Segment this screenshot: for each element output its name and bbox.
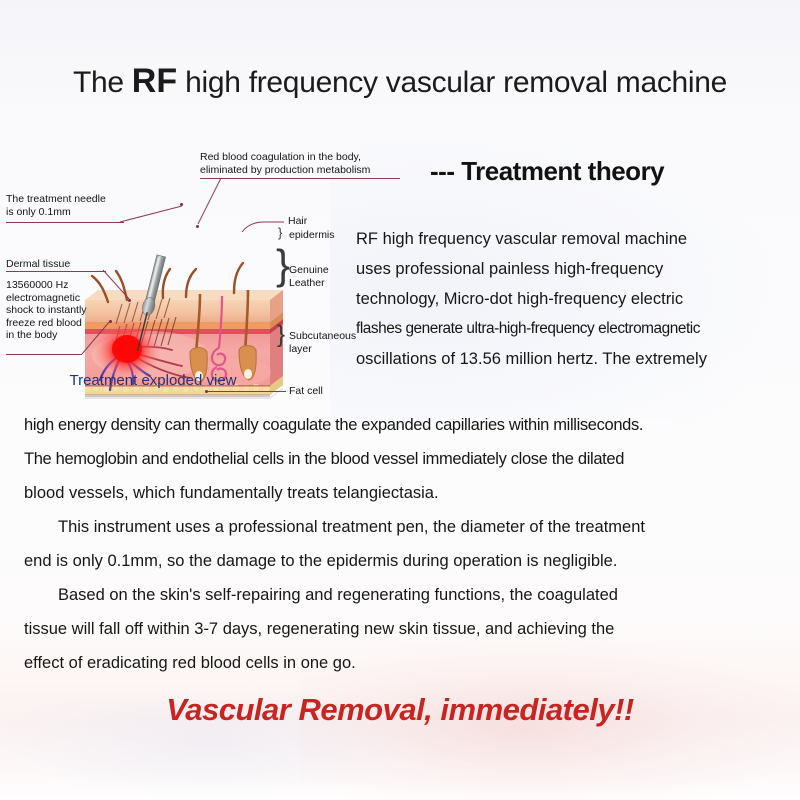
label-coagulation-line2: eliminated by production metabolism: [200, 164, 370, 177]
page-title: The RF high frequency vascular removal m…: [0, 62, 800, 102]
title-prefix: The: [73, 66, 132, 99]
title-suffix: high frequency vascular removal machine: [177, 66, 727, 99]
body-para1: high energy density can thermally coagul…: [24, 408, 780, 442]
body-p3-line1: Based on the skin's self-repairing and r…: [58, 586, 618, 604]
leader-line-coagulation-angled: [193, 178, 223, 228]
diagram-caption: Treatment exploded view: [38, 372, 268, 389]
label-dermal-tissue: Dermal tissue: [6, 258, 70, 271]
label-electromagnetic-line4: freeze red blood: [6, 317, 87, 330]
label-electromagnetic-line5: in the body: [6, 329, 87, 342]
label-epidermis: epidermis: [289, 229, 335, 242]
label-genuine-line1: Genuine: [289, 264, 329, 277]
label-genuine-leather: Genuine Leather: [289, 264, 329, 289]
poster-page: The RF high frequency vascular removal m…: [0, 0, 800, 800]
label-electromagnetic-line1: 13560000 Hz: [6, 279, 87, 292]
label-subcutaneous-line1: Subcutaneous: [289, 330, 356, 343]
body-para3: Based on the skin's self-repairing and r…: [24, 578, 780, 612]
body-p1-line1: high energy density can thermally coagul…: [24, 416, 643, 434]
body-p1-line2: The hemoglobin and endothelial cells in …: [24, 450, 624, 468]
brace-subcutaneous: }: [277, 323, 285, 347]
treatment-theory-heading: --- Treatment theory: [430, 156, 664, 187]
body-para3-cont: tissue will fall off within 3-7 days, re…: [24, 612, 780, 646]
leader-line-fatcell: [208, 391, 286, 392]
label-treatment-needle-line2: is only 0.1mm: [6, 206, 106, 219]
label-hair: Hair: [288, 215, 307, 228]
label-treatment-needle-line1: The treatment needle: [6, 193, 106, 206]
leader-dot-coagulation: [196, 225, 199, 228]
body-para2-cont: end is only 0.1mm, so the damage to the …: [24, 544, 780, 578]
body-p2-line2: end is only 0.1mm, so the damage to the …: [24, 552, 617, 570]
treatment-theory-paragraph: RF high frequency vascular removal machi…: [356, 224, 796, 374]
body-p3-line3: effect of eradicating red blood cells in…: [24, 654, 356, 672]
theory-line-2: uses professional painless high-frequenc…: [356, 254, 796, 284]
brace-genuine-leather: }: [276, 244, 290, 286]
body-text-block: high energy density can thermally coagul…: [24, 408, 780, 680]
body-para1-cont: The hemoglobin and endothelial cells in …: [24, 442, 780, 476]
leader-line-electromagnetic: [6, 354, 82, 355]
theory-line-4: flashes generate ultra-high-frequency el…: [356, 314, 796, 344]
label-electromagnetic-shock: 13560000 Hz electromagnetic shock to ins…: [6, 279, 87, 342]
leader-line-dermal: [6, 271, 106, 272]
label-coagulation-line1: Red blood coagulation in the body,: [200, 151, 370, 164]
label-subcutaneous-line2: layer: [289, 343, 356, 356]
leader-line-needle-angled: [120, 202, 190, 242]
body-para1-cont2: blood vessels, which fundamentally treat…: [24, 476, 780, 510]
leader-line-needle: [6, 222, 124, 223]
body-p1-line3: blood vessels, which fundamentally treat…: [24, 484, 439, 502]
body-p3-line2: tissue will fall off within 3-7 days, re…: [24, 620, 614, 638]
label-treatment-needle: The treatment needle is only 0.1mm: [6, 193, 106, 218]
body-para3-cont2: effect of eradicating red blood cells in…: [24, 646, 780, 680]
theory-line-5: oscillations of 13.56 million hertz. The…: [356, 344, 796, 374]
leader-dot-fatcell: [205, 390, 208, 393]
label-subcutaneous-layer: Subcutaneous layer: [289, 330, 356, 355]
label-electromagnetic-line2: electromagnetic: [6, 292, 87, 305]
label-fat-cell: Fat cell: [289, 385, 323, 398]
leader-dot-needle: [180, 203, 183, 206]
body-p2-line1: This instrument uses a professional trea…: [58, 518, 645, 536]
brace-epidermis: }: [278, 226, 282, 239]
label-electromagnetic-line3: shock to instantly: [6, 304, 87, 317]
label-red-blood-coagulation: Red blood coagulation in the body, elimi…: [200, 151, 370, 176]
footer-headline: Vascular Removal, immediately!!: [0, 692, 800, 728]
theory-line-3: technology, Micro-dot high-frequency ele…: [356, 284, 796, 314]
leader-dot-electromagnetic: [109, 320, 112, 323]
leader-line-coagulation: [200, 178, 400, 179]
title-rf-emphasis: RF: [132, 62, 177, 100]
leader-dot-dermal: [128, 299, 131, 302]
body-para2: This instrument uses a professional trea…: [24, 510, 780, 544]
theory-line-1: RF high frequency vascular removal machi…: [356, 224, 796, 254]
skin-cross-section-diagram: The treatment needle is only 0.1mm Red b…: [0, 140, 340, 400]
label-genuine-line2: Leather: [289, 277, 329, 290]
